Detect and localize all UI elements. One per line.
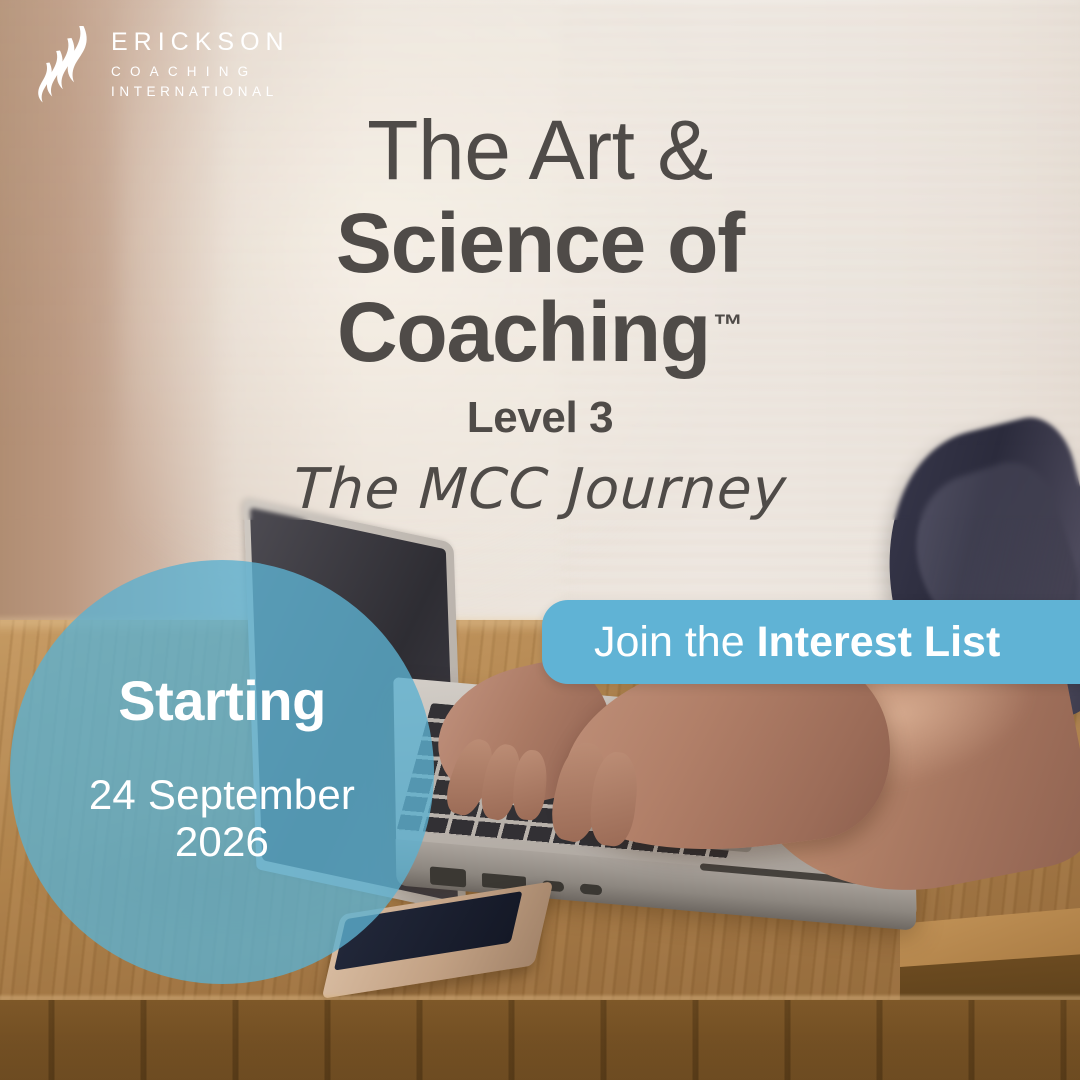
badge-label: Starting [118, 673, 326, 729]
promo-poster: ERICKSON COACHING INTERNATIONAL The Art … [0, 0, 1080, 1080]
start-date-badge: Starting 24 September 2026 [10, 560, 434, 984]
photo-desk-front [0, 1000, 1080, 1080]
badge-date: 24 September 2026 [89, 771, 355, 865]
photo-port-ethernet [430, 866, 466, 887]
photo-port-usbc-2 [580, 883, 602, 895]
cta-label: Join the Interest List [594, 621, 1000, 664]
badge-date-line-2: 2026 [89, 818, 355, 865]
photo-desk-front-grain [0, 1000, 1080, 1080]
flame-mark-icon [36, 24, 98, 104]
brand-tagline-1: COACHING [111, 62, 290, 82]
cta-label-light: Join the [594, 618, 757, 666]
headline-subtitle: The MCC Journey [0, 457, 1080, 522]
cta-label-bold: Interest List [757, 618, 1001, 666]
headline-line-2: Science of [0, 200, 1080, 287]
brand-logo-text: ERICKSON COACHING INTERNATIONAL [111, 26, 290, 101]
trademark-symbol: ™ [713, 309, 743, 342]
headline-level: Level 3 [0, 393, 1080, 443]
brand-logo[interactable]: ERICKSON COACHING INTERNATIONAL [36, 24, 290, 104]
headline-line-3-text: Coaching [337, 285, 710, 379]
join-interest-list-button[interactable]: Join the Interest List [542, 600, 1080, 684]
brand-name: ERICKSON [111, 30, 290, 55]
brand-tagline-2: INTERNATIONAL [111, 82, 290, 102]
headline-line-1: The Art & [0, 108, 1080, 192]
headline-block: The Art & Science of Coaching™ Level 3 T… [0, 108, 1080, 522]
badge-date-line-1: 24 September [89, 771, 355, 818]
headline-line-3: Coaching™ [0, 289, 1080, 376]
